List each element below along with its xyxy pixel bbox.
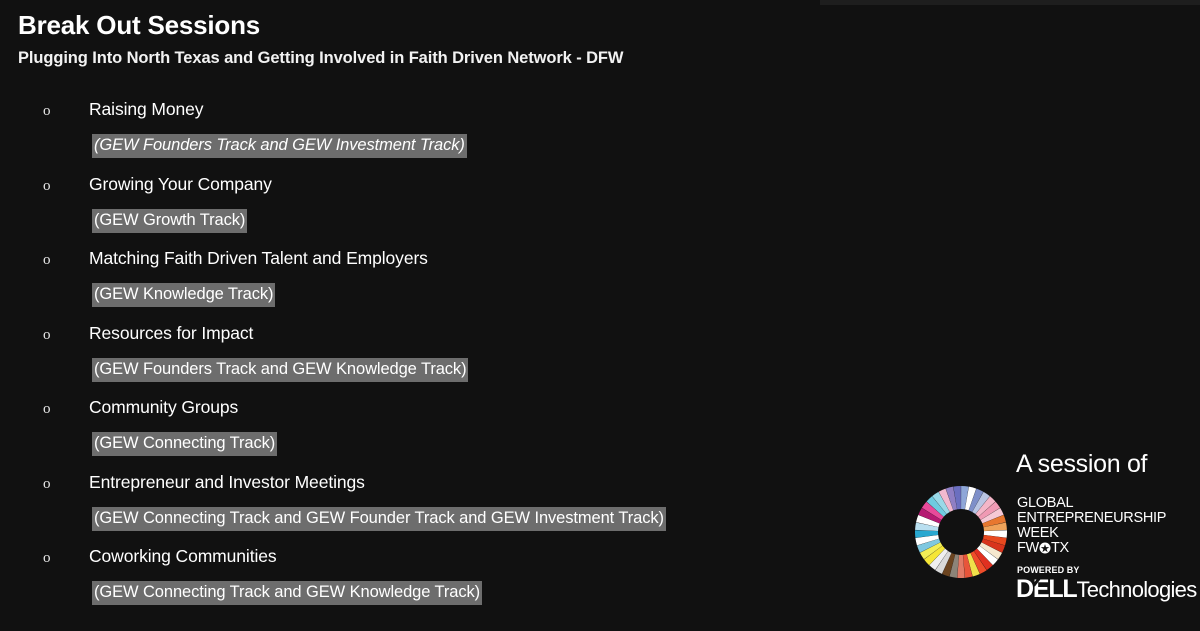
gew-line-entrepreneurship: ENTREPRENEURSHIP bbox=[1017, 511, 1166, 526]
session-bullet-row: oEntrepreneur and Investor Meetings bbox=[0, 471, 880, 507]
session-title: Resources for Impact bbox=[89, 322, 253, 346]
session-track-label: (GEW Connecting Track and GEW Founder Tr… bbox=[92, 507, 666, 531]
session-track-label: (GEW Knowledge Track) bbox=[92, 283, 275, 307]
bullet-marker-icon: o bbox=[43, 328, 51, 343]
powered-by-label: POWERED BY bbox=[1017, 565, 1080, 575]
session-title: Growing Your Company bbox=[89, 173, 272, 197]
dell-word-text: DELL bbox=[1016, 575, 1076, 603]
page-title: Break Out Sessions bbox=[18, 10, 260, 41]
bullet-marker-icon: o bbox=[43, 253, 51, 268]
dell-wordmark: DELL bbox=[1016, 575, 1076, 603]
gew-line-global: GLOBAL bbox=[1017, 496, 1166, 511]
fwtx-suffix: TX bbox=[1051, 540, 1069, 556]
gew-wordmark: GLOBAL ENTREPRENEURSHIP WEEK FWTX bbox=[1017, 496, 1166, 556]
session-title: Entrepreneur and Investor Meetings bbox=[89, 471, 365, 495]
fwtx-prefix: FW bbox=[1017, 540, 1039, 556]
gew-ring-icon bbox=[915, 486, 1007, 578]
bullet-marker-icon: o bbox=[43, 477, 51, 492]
session-bullet-row: oCoworking Communities bbox=[0, 545, 880, 581]
session-group: oGrowing Your Company(GEW Growth Track) bbox=[0, 173, 880, 248]
session-bullet-row: oCommunity Groups bbox=[0, 396, 880, 432]
session-track-row: (GEW Founders Track and GEW Knowledge Tr… bbox=[0, 358, 880, 388]
session-bullet-row: oMatching Faith Driven Talent and Employ… bbox=[0, 247, 880, 283]
ring-center-hole bbox=[939, 510, 983, 554]
session-track-row: (GEW Knowledge Track) bbox=[0, 283, 880, 313]
session-list: oRaising Money(GEW Founders Track and GE… bbox=[0, 98, 880, 620]
session-group: oMatching Faith Driven Talent and Employ… bbox=[0, 247, 880, 322]
gew-logo-lockup: A session of GLOBAL ENTREPRENEURSHIP WEE… bbox=[905, 446, 1195, 616]
session-group: oRaising Money(GEW Founders Track and GE… bbox=[0, 98, 880, 173]
bullet-marker-icon: o bbox=[43, 104, 51, 119]
session-bullet-row: oResources for Impact bbox=[0, 322, 880, 358]
session-group: oCommunity Groups(GEW Connecting Track) bbox=[0, 396, 880, 471]
page-subtitle: Plugging Into North Texas and Getting In… bbox=[18, 49, 623, 68]
bullet-marker-icon: o bbox=[43, 402, 51, 417]
session-track-label: (GEW Founders Track and GEW Investment T… bbox=[92, 134, 467, 158]
session-track-row: (GEW Founders Track and GEW Investment T… bbox=[0, 134, 880, 164]
session-track-row: (GEW Connecting Track and GEW Founder Tr… bbox=[0, 507, 880, 537]
session-title: Matching Faith Driven Talent and Employe… bbox=[89, 247, 428, 271]
gew-line-week: WEEK bbox=[1017, 526, 1166, 541]
session-of-label: A session of bbox=[1016, 450, 1147, 479]
dell-technologies-logo: DELLTechnologies bbox=[1016, 575, 1197, 604]
session-title: Community Groups bbox=[89, 396, 238, 420]
session-group: oResources for Impact(GEW Founders Track… bbox=[0, 322, 880, 397]
session-track-row: (GEW Connecting Track) bbox=[0, 432, 880, 462]
session-track-label: (GEW Growth Track) bbox=[92, 209, 247, 233]
bullet-marker-icon: o bbox=[43, 551, 51, 566]
session-bullet-row: oRaising Money bbox=[0, 98, 880, 134]
session-bullet-row: oGrowing Your Company bbox=[0, 173, 880, 209]
session-group: oCoworking Communities(GEW Connecting Tr… bbox=[0, 545, 880, 620]
session-title: Raising Money bbox=[89, 98, 203, 122]
slide-canvas: Break Out Sessions Plugging Into North T… bbox=[0, 0, 1200, 631]
bullet-marker-icon: o bbox=[43, 179, 51, 194]
gew-line-fwtx: FWTX bbox=[1017, 540, 1166, 556]
top-edge-strip bbox=[820, 0, 1200, 5]
session-title: Coworking Communities bbox=[89, 545, 277, 569]
session-track-label: (GEW Connecting Track) bbox=[92, 432, 277, 456]
session-track-label: (GEW Connecting Track and GEW Knowledge … bbox=[92, 581, 482, 605]
dell-technologies-text: Technologies bbox=[1076, 577, 1196, 602]
star-in-circle-icon bbox=[1039, 542, 1051, 554]
session-track-label: (GEW Founders Track and GEW Knowledge Tr… bbox=[92, 358, 468, 382]
session-group: oEntrepreneur and Investor Meetings(GEW … bbox=[0, 471, 880, 546]
session-track-row: (GEW Growth Track) bbox=[0, 209, 880, 239]
session-track-row: (GEW Connecting Track and GEW Knowledge … bbox=[0, 581, 880, 611]
